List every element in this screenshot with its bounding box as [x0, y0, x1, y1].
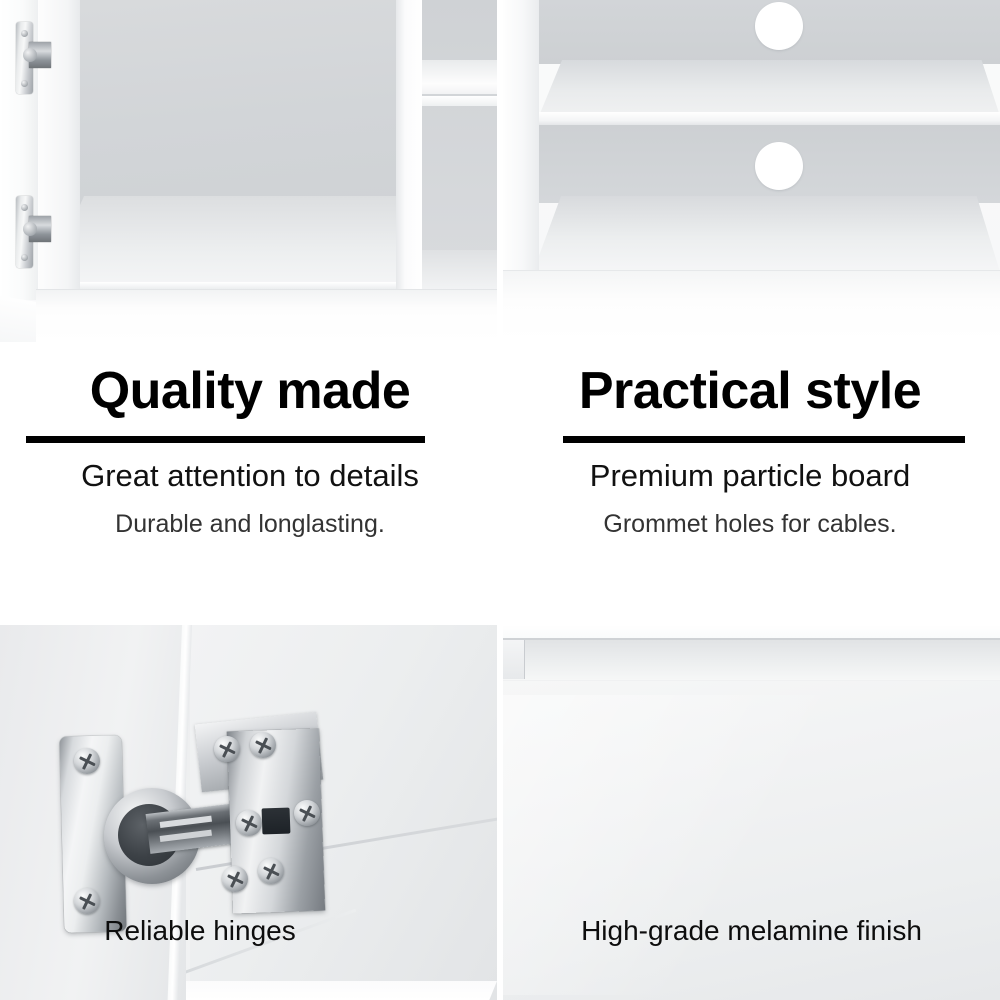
feature-heading: Quality made: [0, 360, 500, 422]
cabinet-open-door-base: [0, 296, 40, 342]
recessed-handle-gap: [503, 638, 1000, 680]
cabinet-side-bay-shelf-edge: [422, 96, 497, 106]
photo-caption-melamine-finish: High-grade melamine finish: [503, 915, 1000, 947]
hinge-adjustment-slot: [262, 808, 291, 835]
shelf-top-surface: [539, 60, 1000, 116]
hinge-screw: [21, 30, 28, 37]
hinge-screw-icon: [74, 748, 100, 774]
cabinet-side-edge: [503, 0, 539, 288]
hinge-cup: [23, 222, 37, 236]
feature-heading: Practical style: [500, 360, 1000, 422]
hinge-screw-icon: [294, 800, 320, 826]
hinge-cup: [23, 48, 37, 62]
grommet-hole-icon: [755, 2, 803, 50]
surface-sheen: [503, 695, 843, 995]
hinge-screw-icon: [222, 866, 248, 892]
cabinet-front-plinth: [36, 289, 497, 342]
photo-melamine-finish: High-grade melamine finish: [503, 625, 1000, 1000]
heading-rule: [26, 436, 425, 443]
lower-panel-face: [168, 981, 497, 1000]
recess-shadow-line: [503, 638, 1000, 640]
heading-rule: [563, 436, 965, 443]
hinge-screw-icon: [258, 858, 284, 884]
hinge-screw-icon: [250, 732, 276, 758]
feature-subheading: Great attention to details: [0, 454, 500, 498]
feature-subheading: Premium particle board: [500, 454, 1000, 498]
cabinet-floor-edge: [40, 282, 402, 289]
photo-hinge-closeup: Reliable hinges: [0, 625, 497, 1000]
cabinet-floor-board: [45, 196, 400, 284]
cabinet-side-bay: [422, 0, 497, 292]
feature-caption: Grommet holes for cables.: [500, 506, 1000, 542]
cabinet-front-plinth: [503, 270, 1000, 342]
grommet-hole-icon: [755, 142, 803, 190]
concealed-hinge-assembly: [62, 730, 322, 940]
recess-end-cap: [503, 639, 525, 679]
cabinet-side-bay-shelf: [422, 60, 497, 94]
hinge-screw-icon: [236, 810, 262, 836]
feature-block-quality-made: Quality made Great attention to details …: [0, 342, 500, 625]
photo-cabinet-interior-hinges: [0, 0, 497, 342]
shelf-front-edge: [533, 112, 1000, 125]
photo-caption-reliable-hinges: Reliable hinges: [0, 915, 400, 947]
cabinet-side-bay-floor: [422, 250, 497, 292]
feature-block-practical-style: Practical style Premium particle board G…: [500, 342, 1000, 625]
cabinet-vertical-divider: [396, 0, 422, 292]
feature-text-band: Quality made Great attention to details …: [0, 342, 1000, 625]
hinge-screw: [21, 254, 28, 261]
hinge-screw-icon: [214, 736, 240, 762]
hinge-screw: [21, 80, 28, 87]
cabinet-top-rail: [503, 625, 1000, 638]
cabinet-back-panel: [78, 0, 398, 212]
hinge-screw: [21, 204, 28, 211]
photo-shelf-grommet-holes: [503, 0, 1000, 342]
feature-caption: Durable and longlasting.: [0, 506, 500, 542]
hinge-screw-icon: [74, 888, 100, 914]
shelf-floor-board: [533, 196, 1000, 272]
